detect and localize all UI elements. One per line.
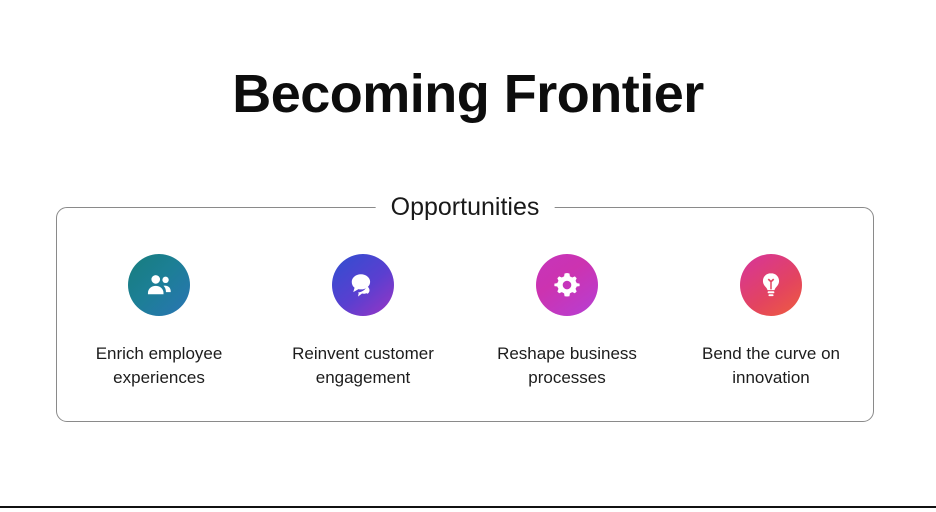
opportunity-item-caption: Bend the curve on innovation: [671, 342, 871, 390]
page-title: Becoming Frontier: [0, 66, 936, 123]
footer-divider: [0, 506, 936, 508]
opportunity-item-employee-experiences[interactable]: Enrich employee experiences: [59, 254, 259, 390]
opportunity-item-caption: Reshape business processes: [467, 342, 667, 390]
slide: Becoming Frontier Opportunities Enrich e…: [0, 0, 936, 512]
lightbulb-icon: [740, 254, 802, 316]
opportunity-item-innovation[interactable]: Bend the curve on innovation: [671, 254, 871, 390]
opportunities-panel: Opportunities Enrich employee experience…: [56, 207, 874, 422]
opportunity-item-business-processes[interactable]: Reshape business processes: [467, 254, 667, 390]
gear-icon: [536, 254, 598, 316]
opportunity-items-row: Enrich employee experiences Reinvent cus…: [57, 208, 873, 421]
opportunity-item-caption: Enrich employee experiences: [59, 342, 259, 390]
opportunity-item-caption: Reinvent customer engagement: [263, 342, 463, 390]
opportunity-item-customer-engagement[interactable]: Reinvent customer engagement: [263, 254, 463, 390]
people-group-icon: [128, 254, 190, 316]
chat-bubbles-icon: [332, 254, 394, 316]
